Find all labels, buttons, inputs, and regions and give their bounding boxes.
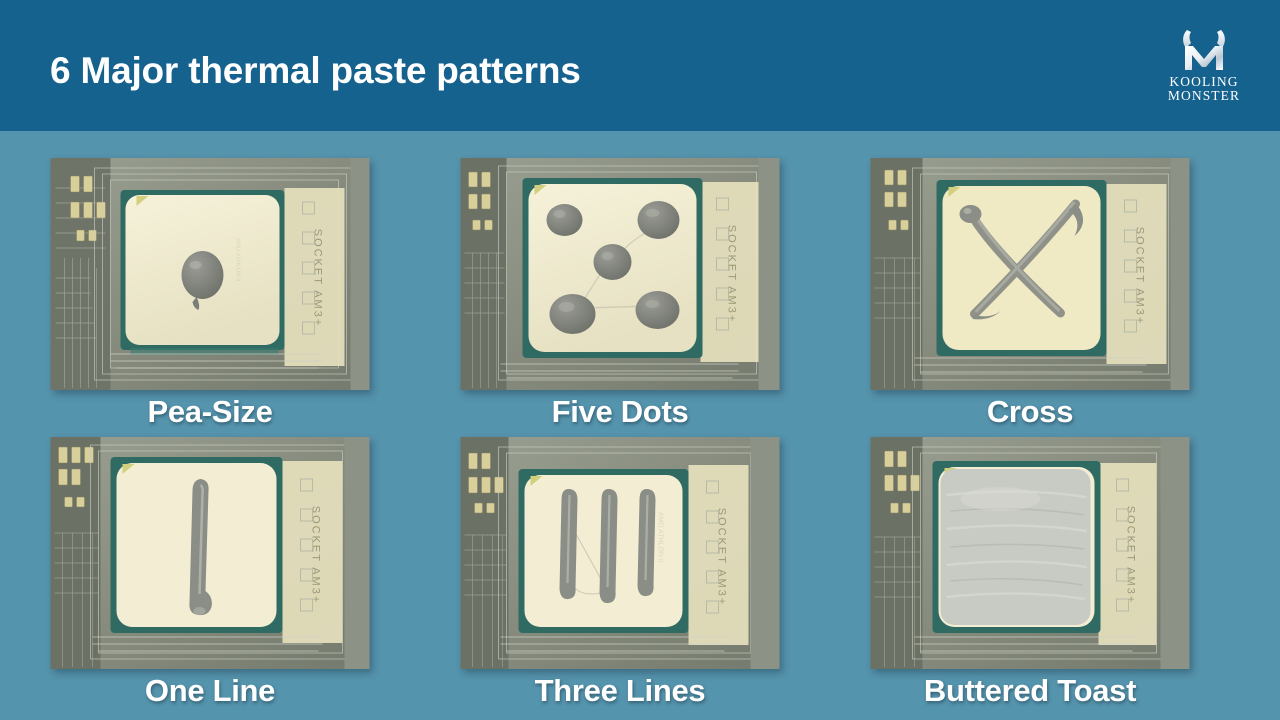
- svg-text:SOCKET AM3+: SOCKET AM3+: [310, 506, 322, 605]
- svg-text:SOCKET AM3+: SOCKET AM3+: [1134, 227, 1146, 326]
- svg-text:SOCKET AM3+: SOCKET AM3+: [312, 229, 324, 328]
- pattern-grid: SOCKET AM3+ AMD ATHLON II: [0, 131, 1280, 720]
- pattern-label-buttered-toast: Buttered Toast: [820, 673, 1240, 709]
- brand-name-line2: MONSTER: [1168, 89, 1240, 103]
- pattern-label-one-line: One Line: [0, 673, 420, 709]
- brand-name: KOOLING MONSTER: [1168, 75, 1240, 103]
- svg-text:AMD ATHLON II: AMD ATHLON II: [657, 512, 664, 563]
- cpu-photo-one-line: SOCKET AM3+: [51, 437, 370, 669]
- svg-text:SOCKET AM3+: SOCKET AM3+: [726, 225, 738, 324]
- monster-m-icon: [1173, 28, 1235, 72]
- pattern-card-three-lines[interactable]: SOCKET AM3+: [410, 437, 830, 715]
- svg-text:AMD ATHLON II: AMD ATHLON II: [235, 238, 241, 282]
- pattern-card-one-line[interactable]: SOCKET AM3+ One Line: [0, 437, 420, 715]
- pattern-card-five-dots[interactable]: SOCKET AM3+: [410, 158, 830, 436]
- pattern-card-pea-size[interactable]: SOCKET AM3+ AMD ATHLON II: [0, 158, 420, 436]
- svg-text:SOCKET AM3+: SOCKET AM3+: [1125, 506, 1137, 605]
- pattern-label-five-dots: Five Dots: [410, 394, 830, 430]
- brand-logo: KOOLING MONSTER: [1152, 28, 1256, 108]
- cpu-photo-five-dots: SOCKET AM3+: [461, 158, 780, 390]
- brand-name-line1: KOOLING: [1168, 75, 1240, 89]
- header-bar: 6 Major thermal paste patterns: [0, 0, 1280, 131]
- pattern-card-cross[interactable]: SOCKET AM3+: [820, 158, 1240, 436]
- svg-text:SOCKET AM3+: SOCKET AM3+: [716, 508, 728, 607]
- pattern-label-three-lines: Three Lines: [410, 673, 830, 709]
- pattern-label-cross: Cross: [820, 394, 1240, 430]
- pattern-card-buttered-toast[interactable]: SOCKET AM3+: [820, 437, 1240, 715]
- cpu-photo-three-lines: SOCKET AM3+: [461, 437, 780, 669]
- page-title: 6 Major thermal paste patterns: [50, 50, 581, 92]
- cpu-photo-buttered-toast: SOCKET AM3+: [871, 437, 1190, 669]
- cpu-photo-cross: SOCKET AM3+: [871, 158, 1190, 390]
- pattern-label-pea-size: Pea-Size: [0, 394, 420, 430]
- cpu-photo-pea-size: SOCKET AM3+ AMD ATHLON II: [51, 158, 370, 390]
